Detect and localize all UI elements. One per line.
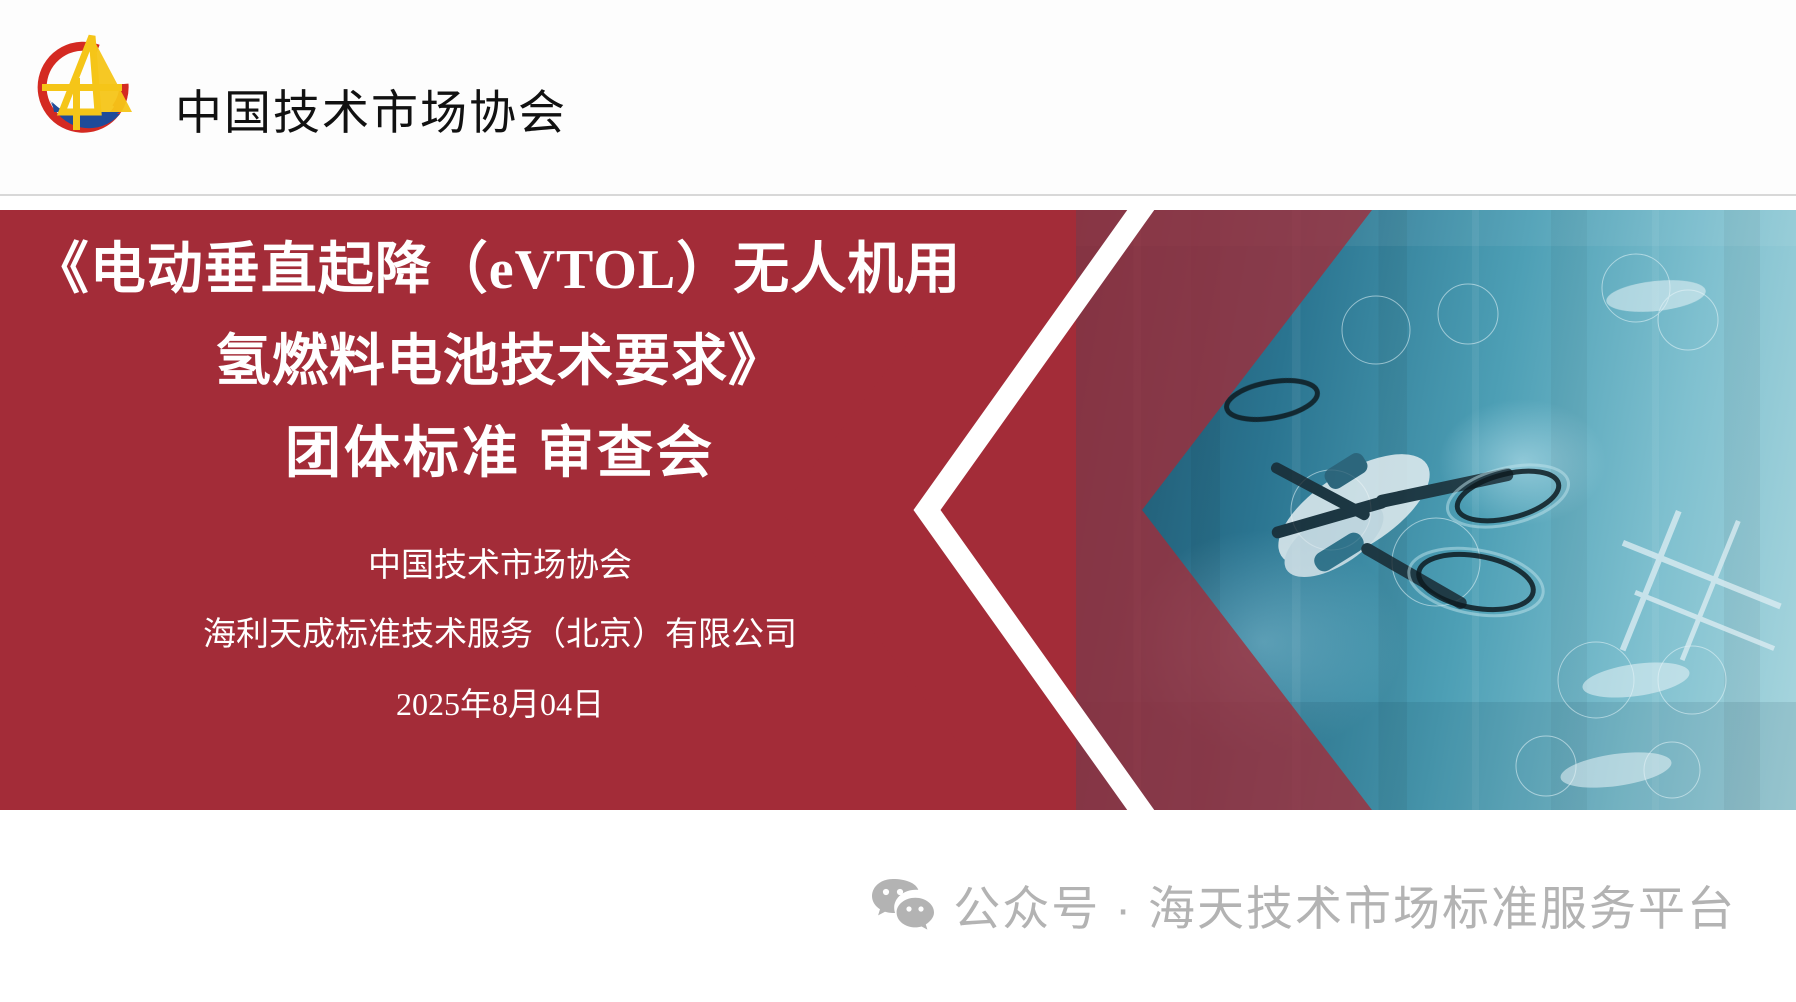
event-date: 2025年8月04日 <box>0 670 1000 739</box>
association-name: 中国技术市场协会 <box>175 74 567 143</box>
organizer-line-2: 海利天成标准技术服务（北京）有限公司 <box>0 601 1000 670</box>
watermark-text: 公众号 · 海天技术市场标准服务平台 <box>953 870 1736 939</box>
slide-header: 中国技术市场协会 <box>0 0 1796 196</box>
title-band: 《电动垂直起降（eVTOL）无人机用 氢燃料电池技术要求》 团体标准 审查会 中… <box>0 210 1796 810</box>
watermark: 公众号 · 海天技术市场标准服务平台 <box>871 870 1736 939</box>
slide-footer: 公众号 · 海天技术市场标准服务平台 <box>0 870 1796 950</box>
title-line-2: 氢燃料电池技术要求》 <box>0 316 1000 408</box>
title-line-3: 团体标准 审查会 <box>0 408 1000 500</box>
organizer-line-1: 中国技术市场协会 <box>0 532 1000 601</box>
sailboat-logo-icon <box>28 22 150 154</box>
drone-cityscape-image <box>1076 210 1796 810</box>
wechat-icon <box>871 877 935 933</box>
slide-canvas: 中国技术市场协会 <box>0 0 1796 1002</box>
title-line-1: 《电动垂直起降（eVTOL）无人机用 <box>0 224 1000 316</box>
subtitle-block: 中国技术市场协会 海利天成标准技术服务（北京）有限公司 2025年8月04日 <box>0 532 1000 739</box>
title-block: 《电动垂直起降（eVTOL）无人机用 氢燃料电池技术要求》 团体标准 审查会 <box>0 224 1000 500</box>
